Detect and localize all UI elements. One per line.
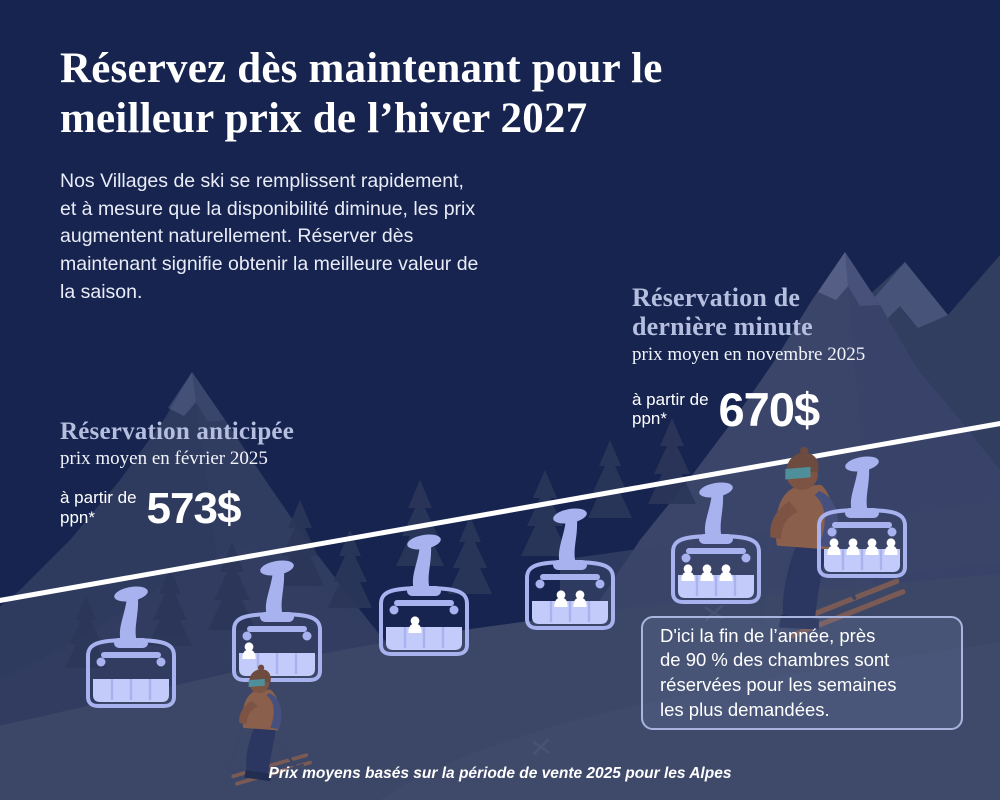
intro-line-5: la saison. <box>60 279 590 307</box>
last-minute-title-line-1: Réservation de <box>632 283 865 312</box>
last-minute-price-row: à partir de ppn* 670$ <box>632 382 865 437</box>
last-minute-from-line-2: ppn* <box>632 409 709 428</box>
callout-line-3: réservées pour les semaines <box>660 673 897 698</box>
intro-line-3: augmentent naturellement. Réserver dès <box>60 223 590 251</box>
callout-line-1: D'ici la fin de l’année, près <box>660 624 897 649</box>
early-booking-from-label: à partir de ppn* <box>60 488 137 528</box>
headline-line-2: meilleur prix de l’hiver 2027 <box>60 94 820 144</box>
early-booking-title: Réservation anticipée <box>60 418 294 446</box>
early-booking-subtitle: prix moyen en février 2025 <box>60 448 294 470</box>
callout-line-4: les plus demandées. <box>660 698 897 723</box>
intro-line-1: Nos Villages de ski se remplissent rapid… <box>60 168 590 196</box>
intro-line-4: maintenant signifie obtenir la meilleure… <box>60 251 590 279</box>
last-minute-from-label: à partir de ppn* <box>632 390 709 430</box>
intro-line-2: et à mesure que la disponibilité diminue… <box>60 196 590 224</box>
skier-goggles <box>249 679 265 687</box>
early-booking-price-row: à partir de ppn* 573$ <box>60 484 294 534</box>
footnote: Prix moyens basés sur la période de vent… <box>0 765 1000 783</box>
last-minute-amount: 670$ <box>719 382 820 437</box>
availability-callout-box: D'ici la fin de l’année, près de 90 % de… <box>641 616 963 730</box>
early-booking-title-line-1: Réservation anticipée <box>60 418 294 446</box>
early-booking-amount: 573$ <box>147 484 241 534</box>
last-minute-from-line-1: à partir de <box>632 390 709 409</box>
skier-hat-pom <box>258 665 264 671</box>
intro-paragraph: Nos Villages de ski se remplissent rapid… <box>60 168 590 306</box>
skier-goggles <box>785 467 810 480</box>
last-minute-title: Réservation de dernière minute <box>632 283 865 341</box>
early-booking-price-block: Réservation anticipée prix moyen en févr… <box>60 418 294 534</box>
headline-line-1: Réservez dès maintenant pour le <box>60 44 820 94</box>
availability-callout-text: D'ici la fin de l’année, près de 90 % de… <box>660 624 897 722</box>
early-booking-from-line-2: ppn* <box>60 508 137 527</box>
page-title: Réservez dès maintenant pour le meilleur… <box>60 44 820 144</box>
last-minute-title-line-2: dernière minute <box>632 312 865 341</box>
early-booking-from-line-1: à partir de <box>60 488 137 507</box>
last-minute-subtitle: prix moyen en novembre 2025 <box>632 344 865 366</box>
callout-line-2: de 90 % des chambres sont <box>660 648 897 673</box>
skier-hat-pom <box>800 447 808 455</box>
last-minute-price-block: Réservation de dernière minute prix moye… <box>632 283 865 437</box>
ski-pricing-infographic: Réservez dès maintenant pour le meilleur… <box>0 0 1000 800</box>
